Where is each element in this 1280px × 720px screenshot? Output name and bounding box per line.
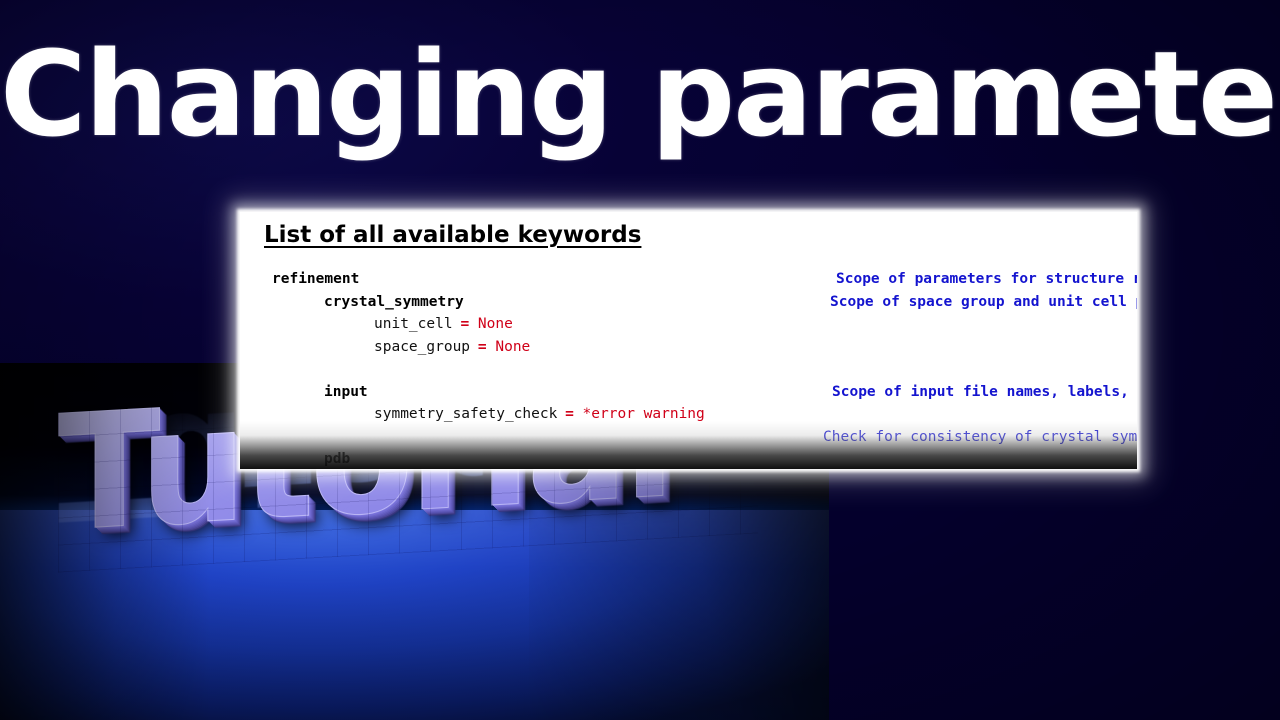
keyword-row: pdb bbox=[240, 448, 1137, 469]
keyword-row: inputScope of input file names, labels, … bbox=[240, 381, 1137, 404]
panel-heading: List of all available keywords bbox=[264, 222, 641, 248]
keywords-panel: List of all available keywords refinemen… bbox=[240, 212, 1137, 469]
scope-name: refinement bbox=[272, 268, 359, 291]
slide-title: Changing parameters bbox=[0, 28, 1280, 160]
parameter-value: *error warning bbox=[583, 403, 705, 426]
parameter-name: symmetry_safety_check bbox=[374, 403, 557, 426]
keyword-row: Check for consistency of crystal symmetr… bbox=[240, 426, 1137, 449]
slide-root: Changing parameters Tutorial Tutorial Tu… bbox=[0, 0, 1280, 720]
parameter-description: Scope of input file names, labels, proce… bbox=[832, 381, 1137, 404]
parameter-description: Scope of space group and unit cell param… bbox=[830, 291, 1137, 314]
keyword-row: refinementScope of parameters for struct… bbox=[240, 268, 1137, 291]
parameter-description: Check for consistency of crystal symmetr… bbox=[823, 426, 1137, 449]
equals-sign: = bbox=[565, 403, 574, 426]
scope-name: pdb bbox=[324, 448, 350, 469]
logo-left-shadow bbox=[0, 363, 210, 720]
keyword-listing: refinementScope of parameters for struct… bbox=[240, 268, 1137, 469]
parameter-description: Scope of parameters for structure refine… bbox=[836, 268, 1137, 291]
keyword-row bbox=[240, 358, 1137, 381]
parameter-name: space_group bbox=[374, 336, 470, 359]
keyword-row: space_group=None bbox=[240, 336, 1137, 359]
scope-name: crystal_symmetry bbox=[324, 291, 464, 314]
keyword-row: symmetry_safety_check=*error warning bbox=[240, 403, 1137, 426]
parameter-value: None bbox=[495, 336, 530, 359]
parameter-value: None bbox=[478, 313, 513, 336]
equals-sign: = bbox=[478, 336, 487, 359]
scope-name: input bbox=[324, 381, 368, 404]
keyword-row: crystal_symmetryScope of space group and… bbox=[240, 291, 1137, 314]
equals-sign: = bbox=[460, 313, 469, 336]
keyword-row: unit_cell=None bbox=[240, 313, 1137, 336]
parameter-name: unit_cell bbox=[374, 313, 453, 336]
